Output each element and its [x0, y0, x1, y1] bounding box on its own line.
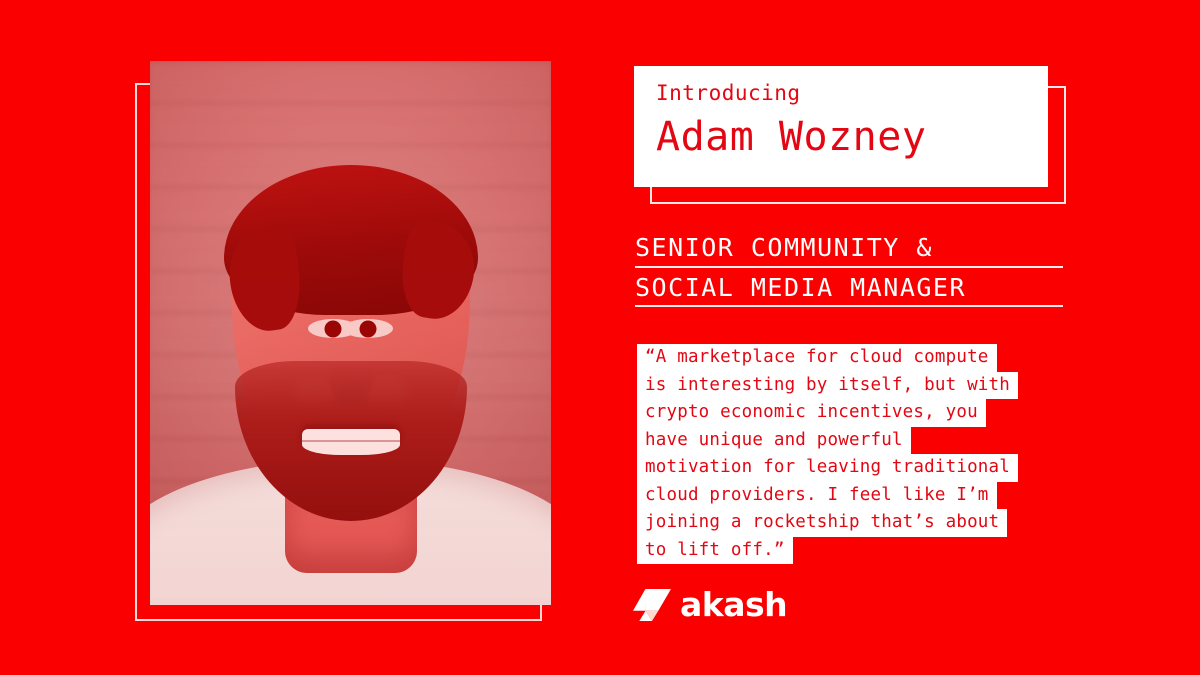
person-figure	[150, 61, 551, 605]
smiling-mouth	[302, 429, 400, 455]
person-name: Adam Wozney	[656, 117, 1048, 157]
name-card: Introducing Adam Wozney	[634, 66, 1048, 187]
eye-right	[343, 319, 393, 338]
quote-line: joining a rocketship that’s about	[637, 509, 1007, 537]
quote-line: motivation for leaving traditional	[637, 454, 1018, 482]
role-block: SENIOR COMMUNITY & SOCIAL MEDIA MANAGER	[635, 233, 1063, 307]
role-line-2: SOCIAL MEDIA MANAGER	[635, 273, 1063, 308]
akash-triangle-logo-icon	[633, 589, 671, 621]
quote-line: crypto economic incentives, you	[637, 399, 986, 427]
quote-line: have unique and powerful	[637, 427, 911, 455]
intro-label: Introducing	[656, 83, 1048, 104]
announcement-card: Introducing Adam Wozney SENIOR COMMUNITY…	[0, 0, 1200, 675]
quote-line: “A marketplace for cloud compute	[637, 344, 997, 372]
akash-wordmark: akash	[680, 588, 787, 621]
quote-line: cloud providers. I feel like I’m	[637, 482, 997, 510]
nose	[329, 343, 373, 407]
quote-block: “A marketplace for cloud compute is inte…	[637, 344, 1057, 564]
portrait-photo	[150, 61, 551, 605]
quote-line: is interesting by itself, but with	[637, 372, 1018, 400]
akash-logo[interactable]: akash	[633, 588, 787, 621]
hair	[224, 165, 478, 315]
role-line-1: SENIOR COMMUNITY &	[635, 233, 1063, 268]
quote-line: to lift off.”	[637, 537, 793, 565]
